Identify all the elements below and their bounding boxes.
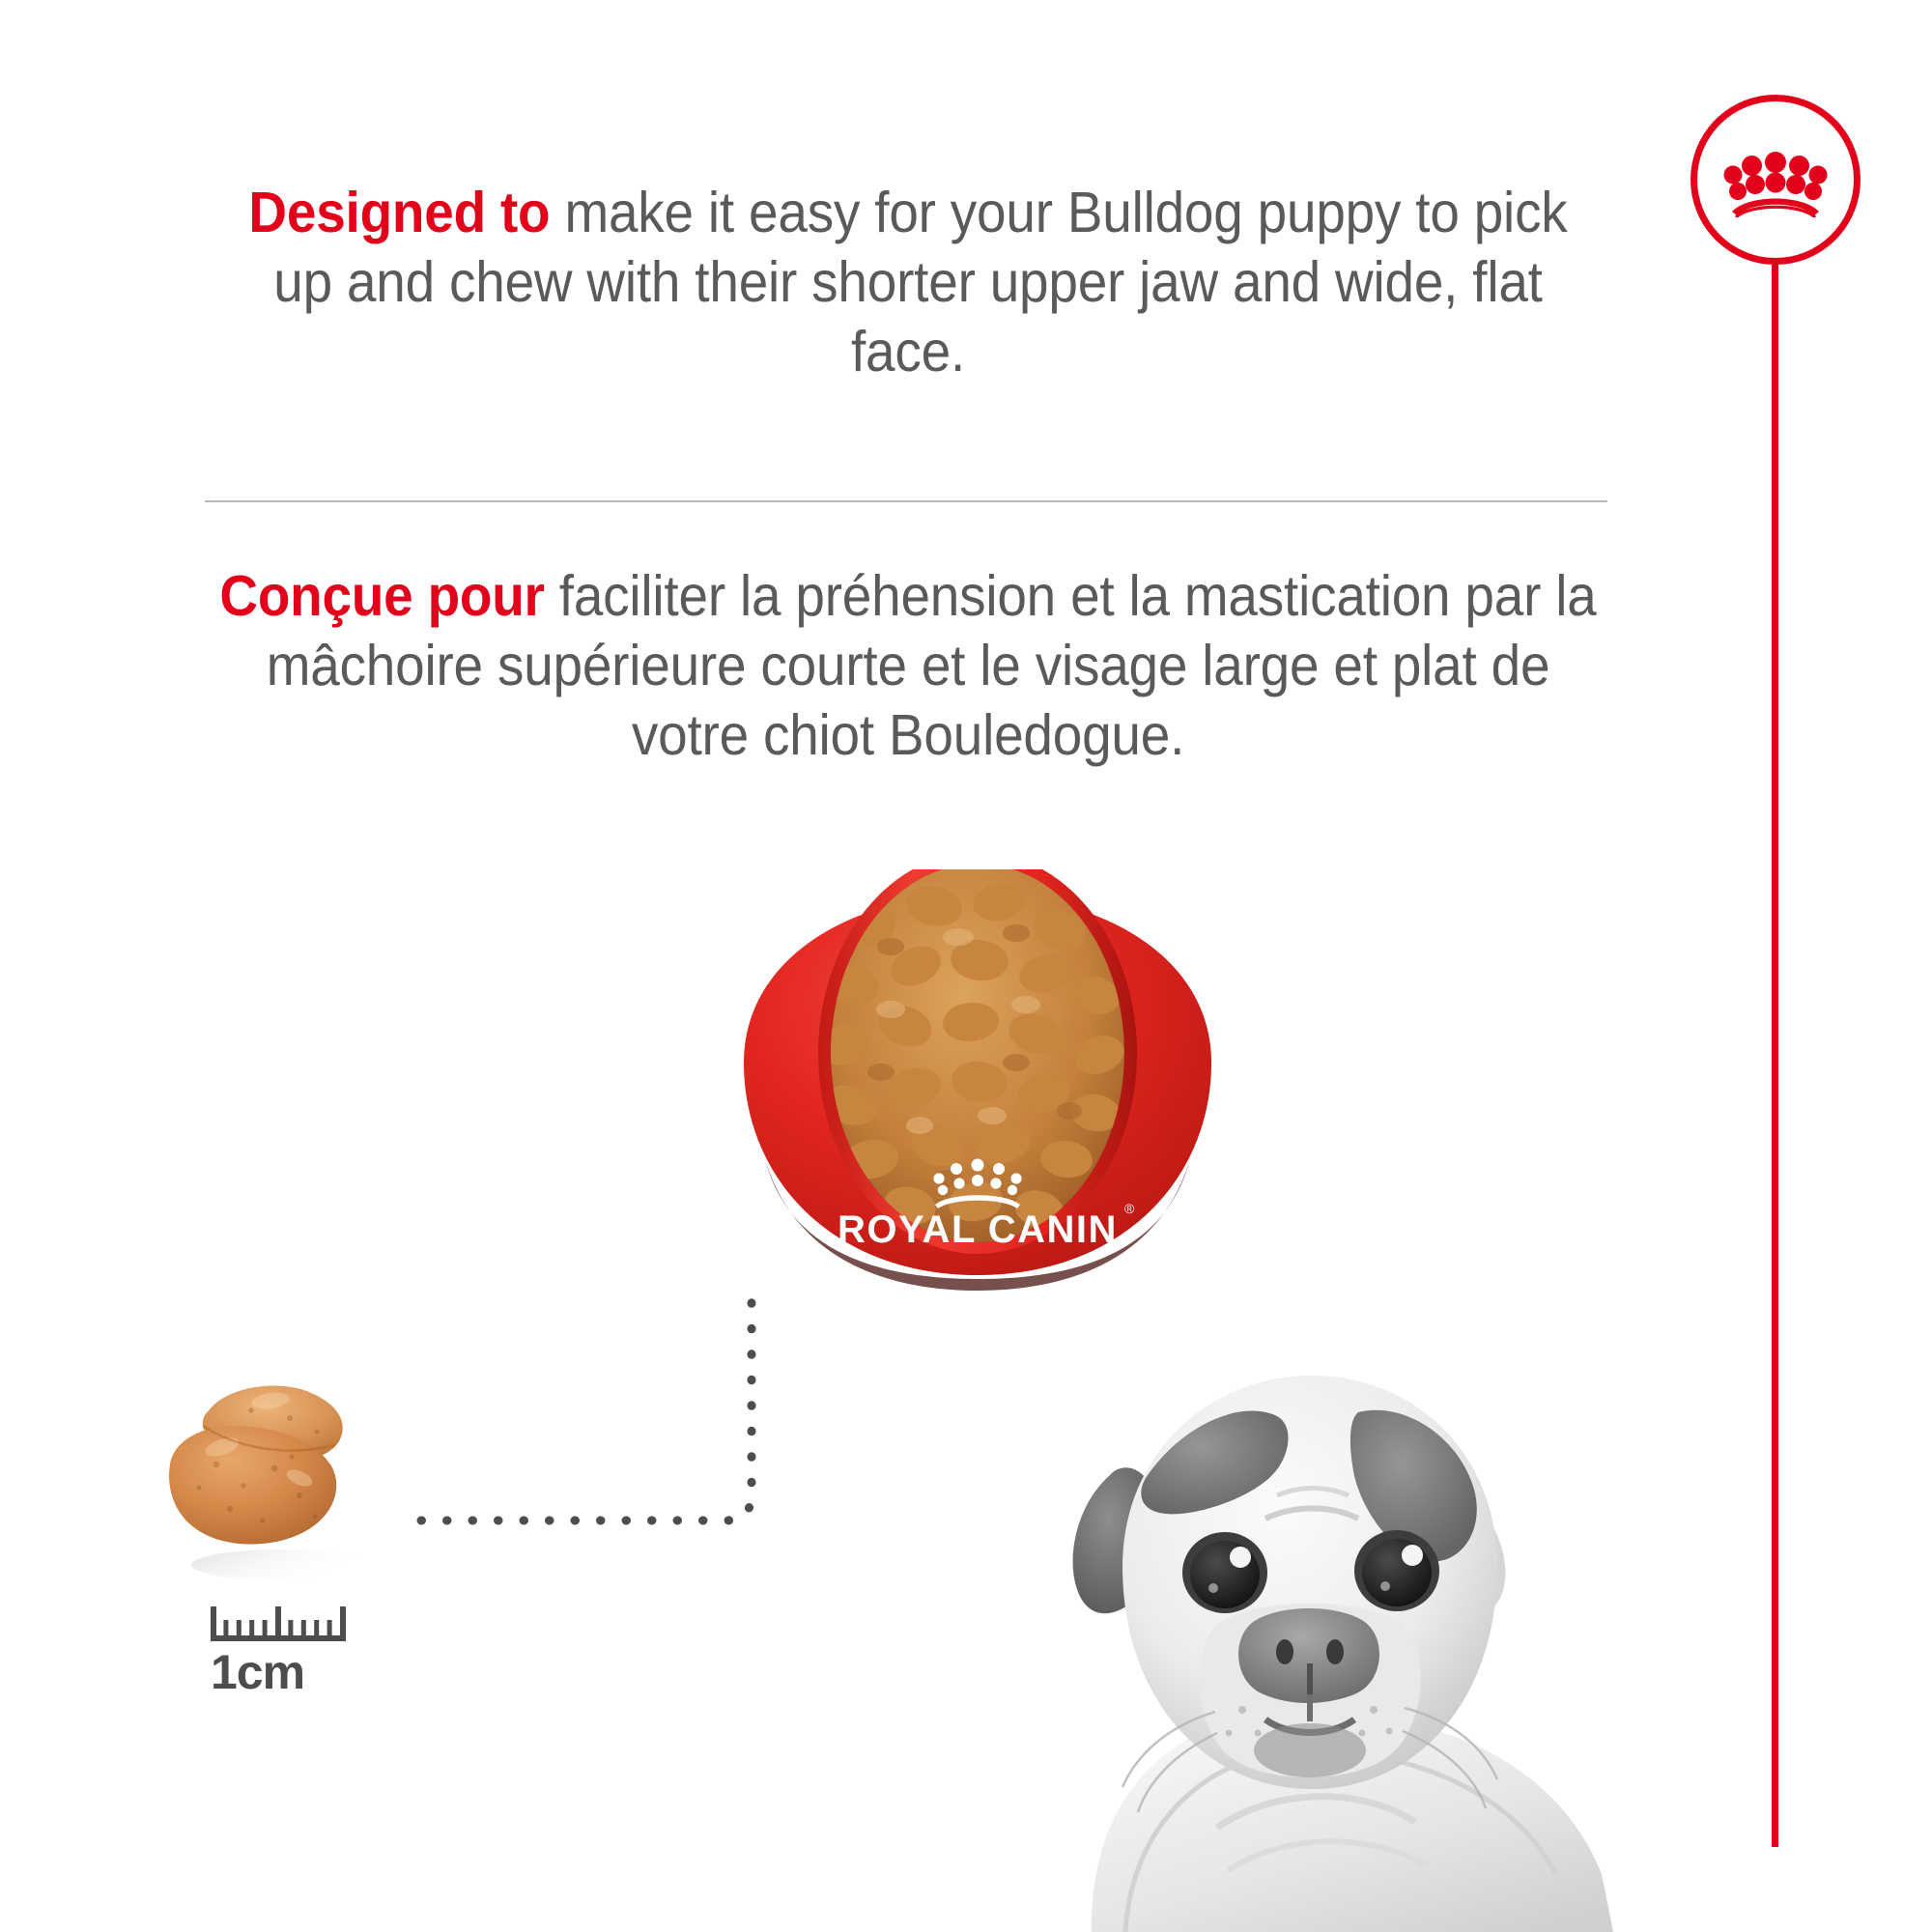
- copy-block-english: Designed to make it easy for your Bulldo…: [145, 179, 1671, 387]
- scale-label: 1cm: [211, 1648, 384, 1696]
- paragraph-english: Designed to make it easy for your Bulldo…: [198, 179, 1617, 387]
- paragraph-french: Conçue pour faciliter la préhension et l…: [198, 562, 1617, 771]
- kibble-piece-icon: [155, 1372, 406, 1584]
- bowl-trademark-symbol: ®: [1124, 1201, 1135, 1216]
- royal-canin-crown-icon: [1723, 148, 1828, 217]
- copy-block-french: Conçue pour faciliter la préhension et l…: [145, 562, 1671, 771]
- dog-food-bowl-icon: ROYAL CANIN ®: [736, 869, 1219, 1314]
- copy-divider: [205, 500, 1607, 502]
- lead-french: Conçue pour: [219, 564, 544, 628]
- brand-medallion: [1690, 95, 1861, 265]
- bowl-wordmark-text: ROYAL CANIN: [838, 1208, 1118, 1251]
- brand-accent-line: [1772, 263, 1778, 1847]
- lead-english: Designed to: [248, 181, 550, 244]
- royal-canin-product-panel: Designed to make it easy for your Bulldo…: [0, 0, 1932, 1932]
- ruler-icon: [211, 1599, 346, 1643]
- bulldog-puppy-photo: [976, 1333, 1652, 1932]
- dotted-connector-line: [415, 1285, 1014, 1526]
